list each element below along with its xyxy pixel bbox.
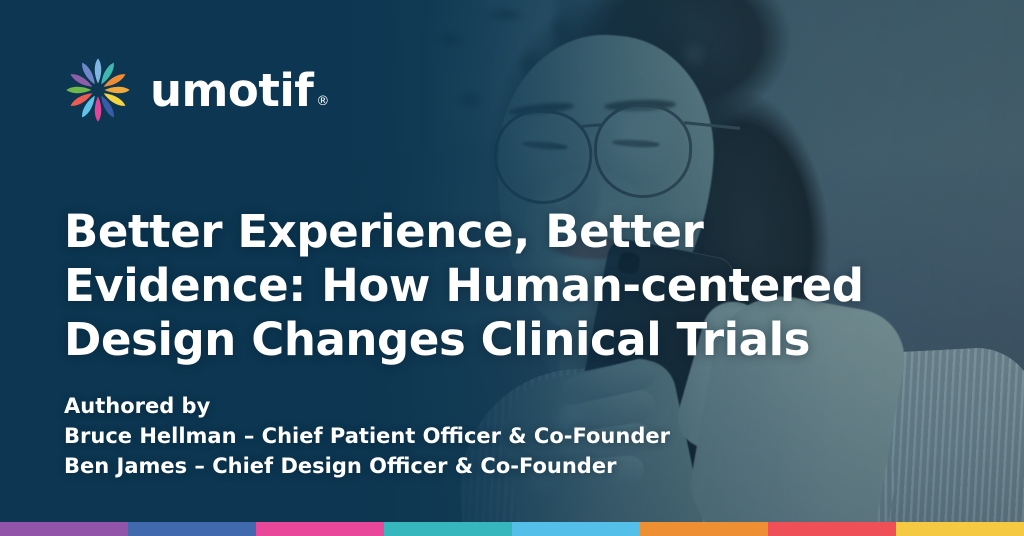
page-title: Better Experience, Better Evidence: How … xyxy=(64,205,854,367)
stripe-segment-light-blue xyxy=(512,522,640,536)
stripe-segment-magenta xyxy=(256,522,384,536)
brand-logo[interactable]: umotif ® xyxy=(62,54,329,126)
brand-color-stripe xyxy=(0,522,1024,536)
registered-trademark-icon: ® xyxy=(316,95,329,113)
headline-line-1: Better Experience, Better xyxy=(64,205,854,259)
brand-wordmark: umotif ® xyxy=(150,68,329,113)
headline-line-3: Design Changes Clinical Trials xyxy=(64,313,854,367)
authored-by-label: Authored by xyxy=(64,392,670,422)
brand-name: umotif xyxy=(150,68,313,113)
stripe-segment-red xyxy=(768,522,896,536)
author-credits: Authored by Bruce Hellman – Chief Patien… xyxy=(64,392,670,481)
title-slide: umotif ® Better Experience, Better Evide… xyxy=(0,0,1024,536)
stripe-segment-blue xyxy=(128,522,256,536)
stripe-segment-teal xyxy=(384,522,512,536)
umotif-rosette-flower-icon xyxy=(62,54,134,126)
stripe-segment-orange xyxy=(640,522,768,536)
slide-content: umotif ® Better Experience, Better Evide… xyxy=(0,0,1024,536)
stripe-segment-yellow xyxy=(896,522,1024,536)
author-2: Ben James – Chief Design Officer & Co-Fo… xyxy=(64,452,670,482)
stripe-segment-purple xyxy=(0,522,128,536)
headline-line-2: Evidence: How Human-centered xyxy=(64,259,854,313)
author-1: Bruce Hellman – Chief Patient Officer & … xyxy=(64,422,670,452)
